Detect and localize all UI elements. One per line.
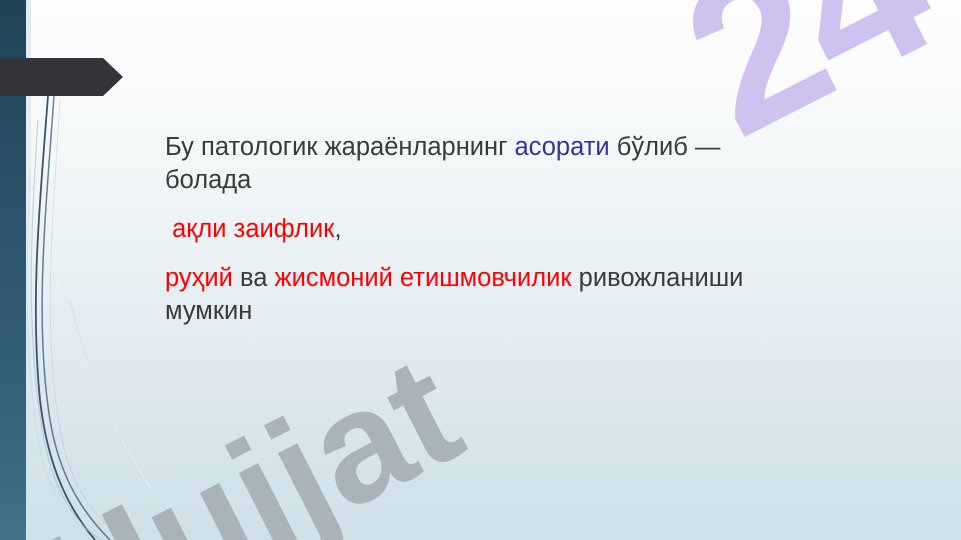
paragraph-two-segment-2-punctuation: , bbox=[334, 215, 341, 243]
paragraph-three-segment-1-highlight: руҳий bbox=[165, 264, 233, 292]
paragraph-two: ақли заифлик, bbox=[165, 213, 785, 246]
paragraph-one-segment-1: Бу патологик жараёнларнинг bbox=[165, 133, 515, 161]
slide-text-body: Бу патологик жараёнларнинг асорати бўлиб… bbox=[165, 131, 785, 328]
paragraph-two-segment-1-highlight: ақли заифлик bbox=[165, 215, 334, 243]
paragraph-one: Бу патологик жараёнларнинг асорати бўлиб… bbox=[165, 131, 785, 197]
paragraph-one-segment-2-highlight: асорати bbox=[515, 133, 610, 161]
paragraph-three-segment-3-highlight: жисмоний етишмовчилик bbox=[275, 264, 572, 292]
paragraph-three: руҳий ва жисмоний етишмовчилик ривожлани… bbox=[165, 262, 785, 328]
slide-canvas: 24 Hujjat Бу патологик жараёнларнинг асо… bbox=[0, 0, 961, 540]
paragraph-three-segment-2: ва bbox=[233, 264, 275, 292]
arrow-banner-shape bbox=[0, 58, 123, 96]
watermark-brand-hujjat: Hujjat bbox=[14, 320, 487, 540]
